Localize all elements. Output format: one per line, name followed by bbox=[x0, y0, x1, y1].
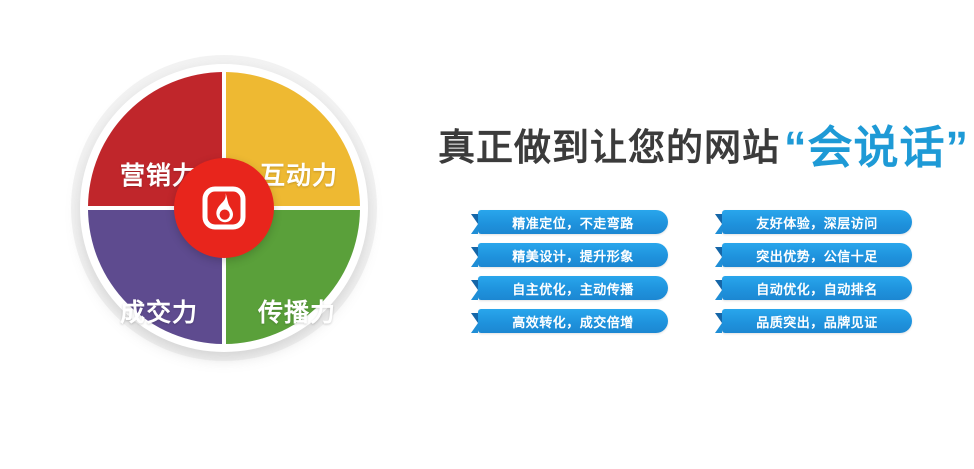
headline-quoted-text: “会说话” bbox=[784, 122, 969, 173]
tag-item[interactable]: 突出优势，公信十足 bbox=[722, 243, 912, 267]
tag-label: 高效转化，成交倍增 bbox=[512, 312, 634, 331]
quadrant-label-interaction: 互动力 bbox=[260, 156, 338, 192]
quadrant-label-spread: 传播力 bbox=[258, 293, 336, 329]
tag-label: 自动优化，自动排名 bbox=[756, 279, 878, 298]
wheel-hub[interactable] bbox=[174, 158, 274, 258]
tag-ribbon-tail-icon bbox=[715, 313, 722, 333]
capability-wheel-diagram: 营销力 互动力 成交力 传播力 bbox=[72, 56, 376, 394]
headline: 真正做到让您的网站“会说话” bbox=[438, 122, 969, 167]
tag-item[interactable]: 自动优化，自动排名 bbox=[722, 276, 912, 300]
tag-ribbon-tail-icon bbox=[471, 214, 478, 234]
tag-label: 突出优势，公信十足 bbox=[756, 246, 878, 265]
tag-label: 友好体验，深层访问 bbox=[756, 213, 878, 232]
tag-ribbon-tail-icon bbox=[471, 280, 478, 300]
flame-logo-icon bbox=[196, 180, 252, 236]
tag-label: 自主优化，主动传播 bbox=[512, 279, 634, 298]
tag-ribbon-tail-icon bbox=[471, 313, 478, 333]
tag-item[interactable]: 自主优化，主动传播 bbox=[478, 276, 668, 300]
tag-item[interactable]: 高效转化，成交倍增 bbox=[478, 309, 668, 333]
tag-list-left: 精准定位，不走弯路 精美设计，提升形象 自主优化，主动传播 高效转化，成交倍增 bbox=[478, 210, 668, 333]
wheel-quadrants: 营销力 互动力 成交力 传播力 bbox=[88, 72, 360, 344]
tag-ribbon-tail-icon bbox=[715, 214, 722, 234]
tag-item[interactable]: 品质突出，品牌见证 bbox=[722, 309, 912, 333]
tag-label: 精美设计，提升形象 bbox=[512, 246, 634, 265]
tag-list-right: 友好体验，深层访问 突出优势，公信十足 自动优化，自动排名 品质突出，品牌见证 bbox=[722, 210, 912, 333]
tag-item[interactable]: 友好体验，深层访问 bbox=[722, 210, 912, 234]
tag-item[interactable]: 精美设计，提升形象 bbox=[478, 243, 668, 267]
tag-label: 精准定位，不走弯路 bbox=[512, 213, 634, 232]
tag-label: 品质突出，品牌见证 bbox=[756, 312, 878, 331]
tag-ribbon-tail-icon bbox=[715, 247, 722, 267]
headline-main-text: 真正做到让您的网站 bbox=[438, 127, 780, 168]
tag-item[interactable]: 精准定位，不走弯路 bbox=[478, 210, 668, 234]
quadrant-label-deal: 成交力 bbox=[120, 293, 198, 329]
tag-ribbon-tail-icon bbox=[715, 280, 722, 300]
tag-ribbon-tail-icon bbox=[471, 247, 478, 267]
